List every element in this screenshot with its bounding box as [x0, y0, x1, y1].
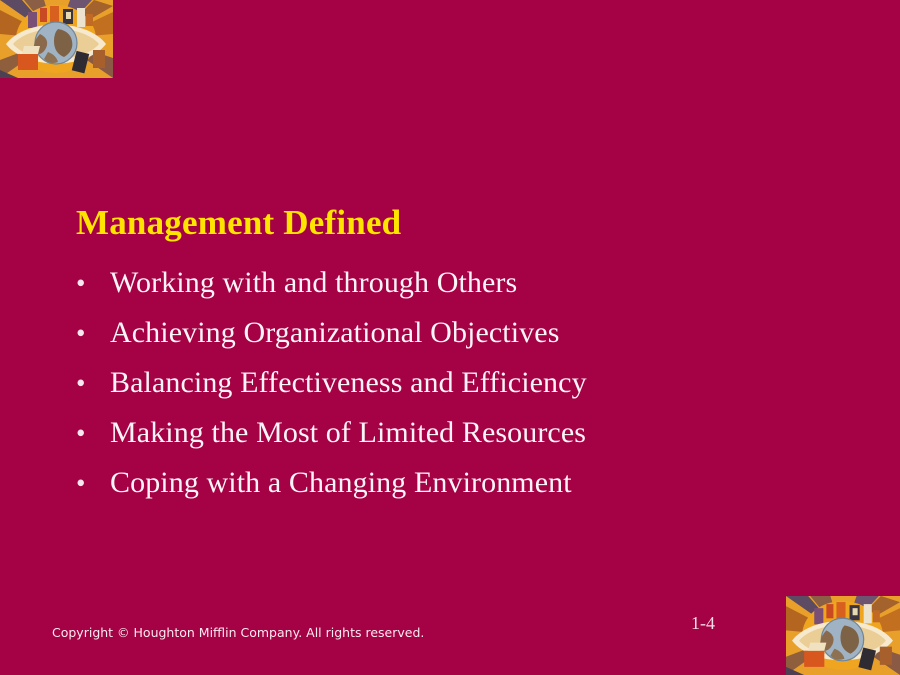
slide-number: 1-4 [691, 613, 715, 634]
bullet-marker-icon: • [72, 308, 110, 358]
bullet-marker-icon: • [72, 358, 110, 408]
list-item: • Achieving Organizational Objectives [72, 308, 587, 358]
bullet-marker-icon: • [72, 408, 110, 458]
bullet-marker-icon: • [72, 458, 110, 508]
list-item: • Working with and through Others [72, 258, 587, 308]
presentation-slide: Management Defined • Working with and th… [0, 0, 900, 675]
bullet-text: Balancing Effectiveness and Efficiency [110, 358, 587, 408]
list-item: • Balancing Effectiveness and Efficiency [72, 358, 587, 408]
globe-eye-artwork-logo-top [0, 0, 113, 78]
bullet-text: Working with and through Others [110, 258, 517, 308]
bullet-text: Coping with a Changing Environment [110, 458, 572, 508]
bullet-list: • Working with and through Others • Achi… [72, 258, 587, 508]
slide-title: Management Defined [76, 203, 401, 243]
copyright-notice: Copyright © Houghton Mifflin Company. Al… [52, 625, 424, 640]
list-item: • Making the Most of Limited Resources [72, 408, 587, 458]
bullet-text: Making the Most of Limited Resources [110, 408, 586, 458]
bullet-marker-icon: • [72, 258, 110, 308]
list-item: • Coping with a Changing Environment [72, 458, 587, 508]
globe-eye-artwork-logo-bottom [786, 596, 900, 675]
bullet-text: Achieving Organizational Objectives [110, 308, 559, 358]
